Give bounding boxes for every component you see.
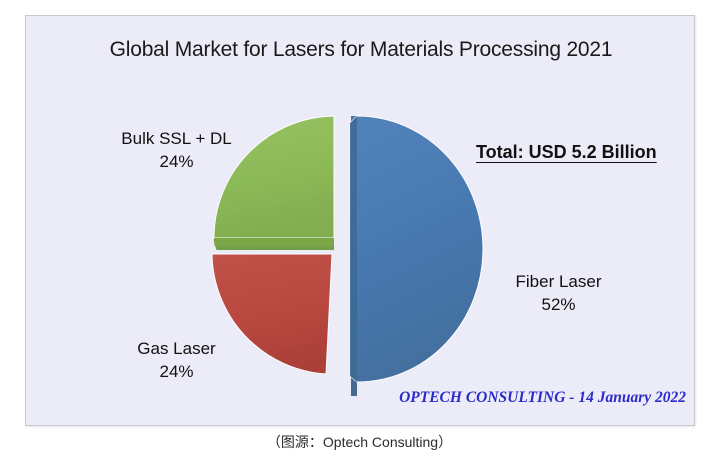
pie-slice-fiber-group[interactable] — [350, 116, 483, 382]
chart-panel: Global Market for Lasers for Materials P… — [25, 15, 695, 426]
pie-label-gas: Gas Laser 24% — [84, 338, 269, 384]
pie-label-gas-percent: 24% — [84, 361, 269, 384]
pie-label-bulk-name: Bulk SSL + DL — [121, 129, 231, 148]
pie-slice-fiber[interactable] — [350, 116, 483, 382]
pie-slice-bulk-lip — [214, 238, 334, 246]
source-credit: OPTECH CONSULTING - 14 January 2022 — [356, 389, 686, 407]
pie-label-fiber-percent: 52% — [466, 294, 651, 317]
total-annotation: Total: USD 5.2 Billion — [476, 142, 657, 163]
pie-label-fiber: Fiber Laser 52% — [466, 271, 651, 317]
pie-label-bulk-percent: 24% — [84, 151, 269, 174]
pie-label-fiber-name: Fiber Laser — [516, 272, 602, 291]
pie-slice-fiber-wall — [350, 116, 357, 382]
pie-label-bulk: Bulk SSL + DL 24% — [84, 128, 269, 174]
figure-caption: （图源：Optech Consulting） — [0, 432, 719, 452]
pie-label-gas-name: Gas Laser — [137, 339, 215, 358]
